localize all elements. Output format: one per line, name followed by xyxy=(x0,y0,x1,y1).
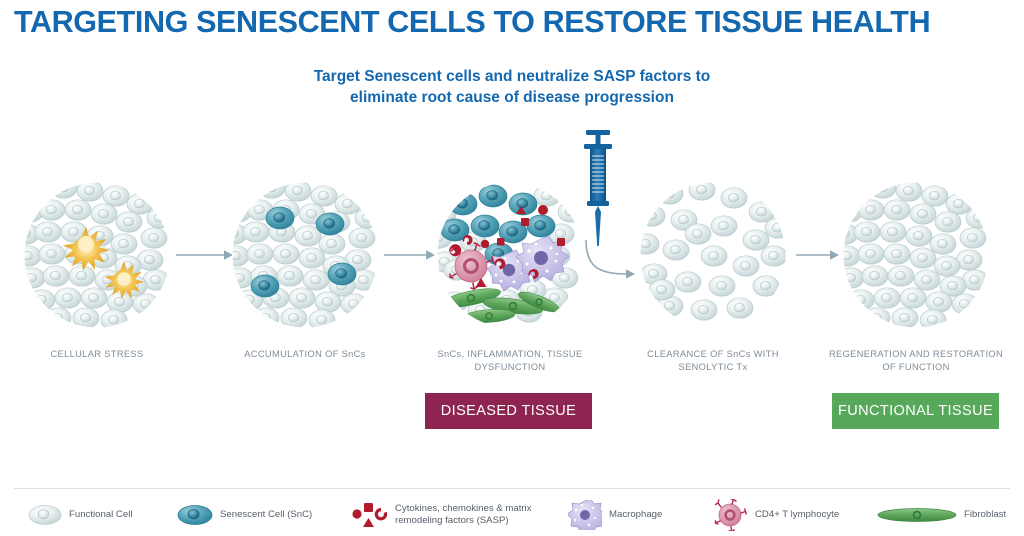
stage-circle-regeneration xyxy=(843,182,989,328)
fibroblast-icon xyxy=(877,504,957,526)
functional-cell-icon xyxy=(28,503,62,527)
legend-divider xyxy=(14,488,1010,489)
legend-item-cd4-t-lymphocyte: CD4+ T lymphocyte xyxy=(712,494,839,536)
legend-label-sasp: Cytokines, chemokines & matrix remodelin… xyxy=(395,503,532,527)
caption-clearance: CLEARANCE OF SnCs WITH SENOLYTIC Tx xyxy=(623,348,803,373)
legend-label-senescent-cell: Senescent Cell (SnC) xyxy=(220,509,312,521)
subtitle-line-1: Target Senescent cells and neutralize SA… xyxy=(262,66,762,87)
legend-label-fibroblast: Fibroblast xyxy=(964,509,1006,521)
stage-circle-clearance xyxy=(640,182,786,328)
cd4-t-lymphocyte-icon xyxy=(712,499,748,531)
subtitle: Target Senescent cells and neutralize SA… xyxy=(262,66,762,108)
legend-item-sasp: Cytokines, chemokines & matrix remodelin… xyxy=(350,494,532,536)
syringe-icon xyxy=(578,130,618,250)
diagram-canvas: TARGETING SENESCENT CELLS TO RESTORE TIS… xyxy=(0,0,1024,536)
legend-label-functional-cell: Functional Cell xyxy=(69,509,132,521)
caption-accumulation-sncs: ACCUMULATION OF SnCs xyxy=(215,348,395,361)
flow-arrow-4 xyxy=(796,248,840,262)
legend-item-macrophage: Macrophage xyxy=(568,494,662,536)
caption-cellular-stress: CELLULAR STRESS xyxy=(7,348,187,361)
stage-circle-inflammation xyxy=(437,182,583,328)
curved-arrow-icon xyxy=(584,240,642,290)
page-title: TARGETING SENESCENT CELLS TO RESTORE TIS… xyxy=(14,4,995,40)
status-badge-diseased-tissue: DISEASED TISSUE xyxy=(425,393,592,429)
flow-arrow-2 xyxy=(384,248,436,262)
legend-item-senescent-cell: Senescent Cell (SnC) xyxy=(177,494,312,536)
legend-label-macrophage: Macrophage xyxy=(609,509,662,521)
macrophage-icon xyxy=(568,500,602,530)
stage-circle-cellular-stress xyxy=(24,182,170,328)
legend-item-fibroblast: Fibroblast xyxy=(877,494,1006,536)
sasp-icon xyxy=(350,501,388,529)
legend-label-cd4-t-lymphocyte: CD4+ T lymphocyte xyxy=(755,509,839,521)
legend-item-functional-cell: Functional Cell xyxy=(28,494,132,536)
status-badge-functional-tissue: FUNCTIONAL TISSUE xyxy=(832,393,999,429)
flow-arrow-1 xyxy=(176,248,234,262)
legend: Functional Cell Senescent Cell (SnC) Cyt… xyxy=(0,494,1024,536)
caption-regeneration: REGENERATION AND RESTORATION OF FUNCTION xyxy=(826,348,1006,373)
senescent-cell-icon xyxy=(177,503,213,527)
subtitle-line-2: eliminate root cause of disease progress… xyxy=(262,87,762,108)
caption-inflammation: SnCs, INFLAMMATION, TISSUE DYSFUNCTION xyxy=(420,348,600,373)
stage-circle-accumulation xyxy=(232,182,378,328)
